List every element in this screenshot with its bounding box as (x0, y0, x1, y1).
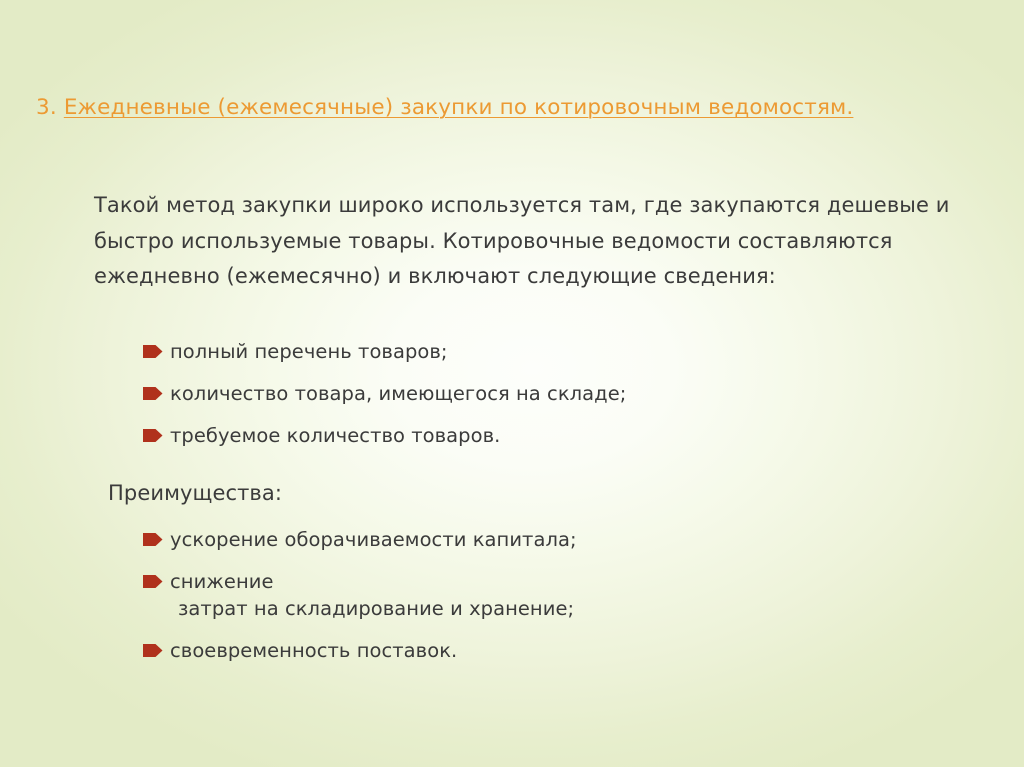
list-item: требуемое количество товаров. (142, 423, 942, 449)
list-item-label: количество товара, имеющегося на складе; (170, 382, 626, 405)
list-item: снижение затрат на складирование и хране… (142, 569, 942, 622)
list-item-label: требуемое количество товаров. (170, 424, 500, 447)
list-item-label: снижение (170, 570, 274, 593)
arrow-pentagon-bullet-icon (143, 429, 163, 442)
arrow-pentagon-bullet-icon (143, 345, 163, 358)
list-item-label-continuation: затрат на складирование и хранение; (170, 595, 942, 622)
list-item: своевременность поставок. (142, 638, 942, 664)
slide-canvas: 3. Ежедневные (ежемесячные) закупки по к… (0, 0, 1024, 767)
title-main-text: Ежедневные (ежемесячные) закупки по коти… (64, 95, 854, 120)
list-item: ускорение оборачиваемости капитала; (142, 527, 942, 553)
list-item: полный перечень товаров; (142, 339, 942, 365)
contents-bullet-list: полный перечень товаров; количество това… (142, 339, 942, 449)
arrow-pentagon-bullet-icon (143, 533, 163, 546)
advantages-heading: Преимущества: (108, 478, 282, 508)
arrow-pentagon-bullet-icon (143, 575, 163, 588)
slide-title: 3. Ежедневные (ежемесячные) закупки по к… (36, 95, 936, 120)
list-item-label: своевременность поставок. (170, 639, 457, 662)
list-item-label: ускорение оборачиваемости капитала; (170, 528, 577, 551)
arrow-pentagon-bullet-icon (143, 387, 163, 400)
body-paragraph-block: Такой метод закупки широко используется … (94, 188, 974, 295)
list-item: количество товара, имеющегося на складе; (142, 381, 942, 407)
title-text-wrapper: 3. Ежедневные (ежемесячные) закупки по к… (36, 95, 936, 120)
advantages-bullet-list: ускорение оборачиваемости капитала; сниж… (142, 527, 942, 664)
arrow-pentagon-bullet-icon (143, 644, 163, 657)
list-item-label: полный перечень товаров; (170, 340, 448, 363)
title-number: 3. (36, 95, 64, 120)
body-paragraph: Такой метод закупки широко используется … (94, 188, 974, 295)
